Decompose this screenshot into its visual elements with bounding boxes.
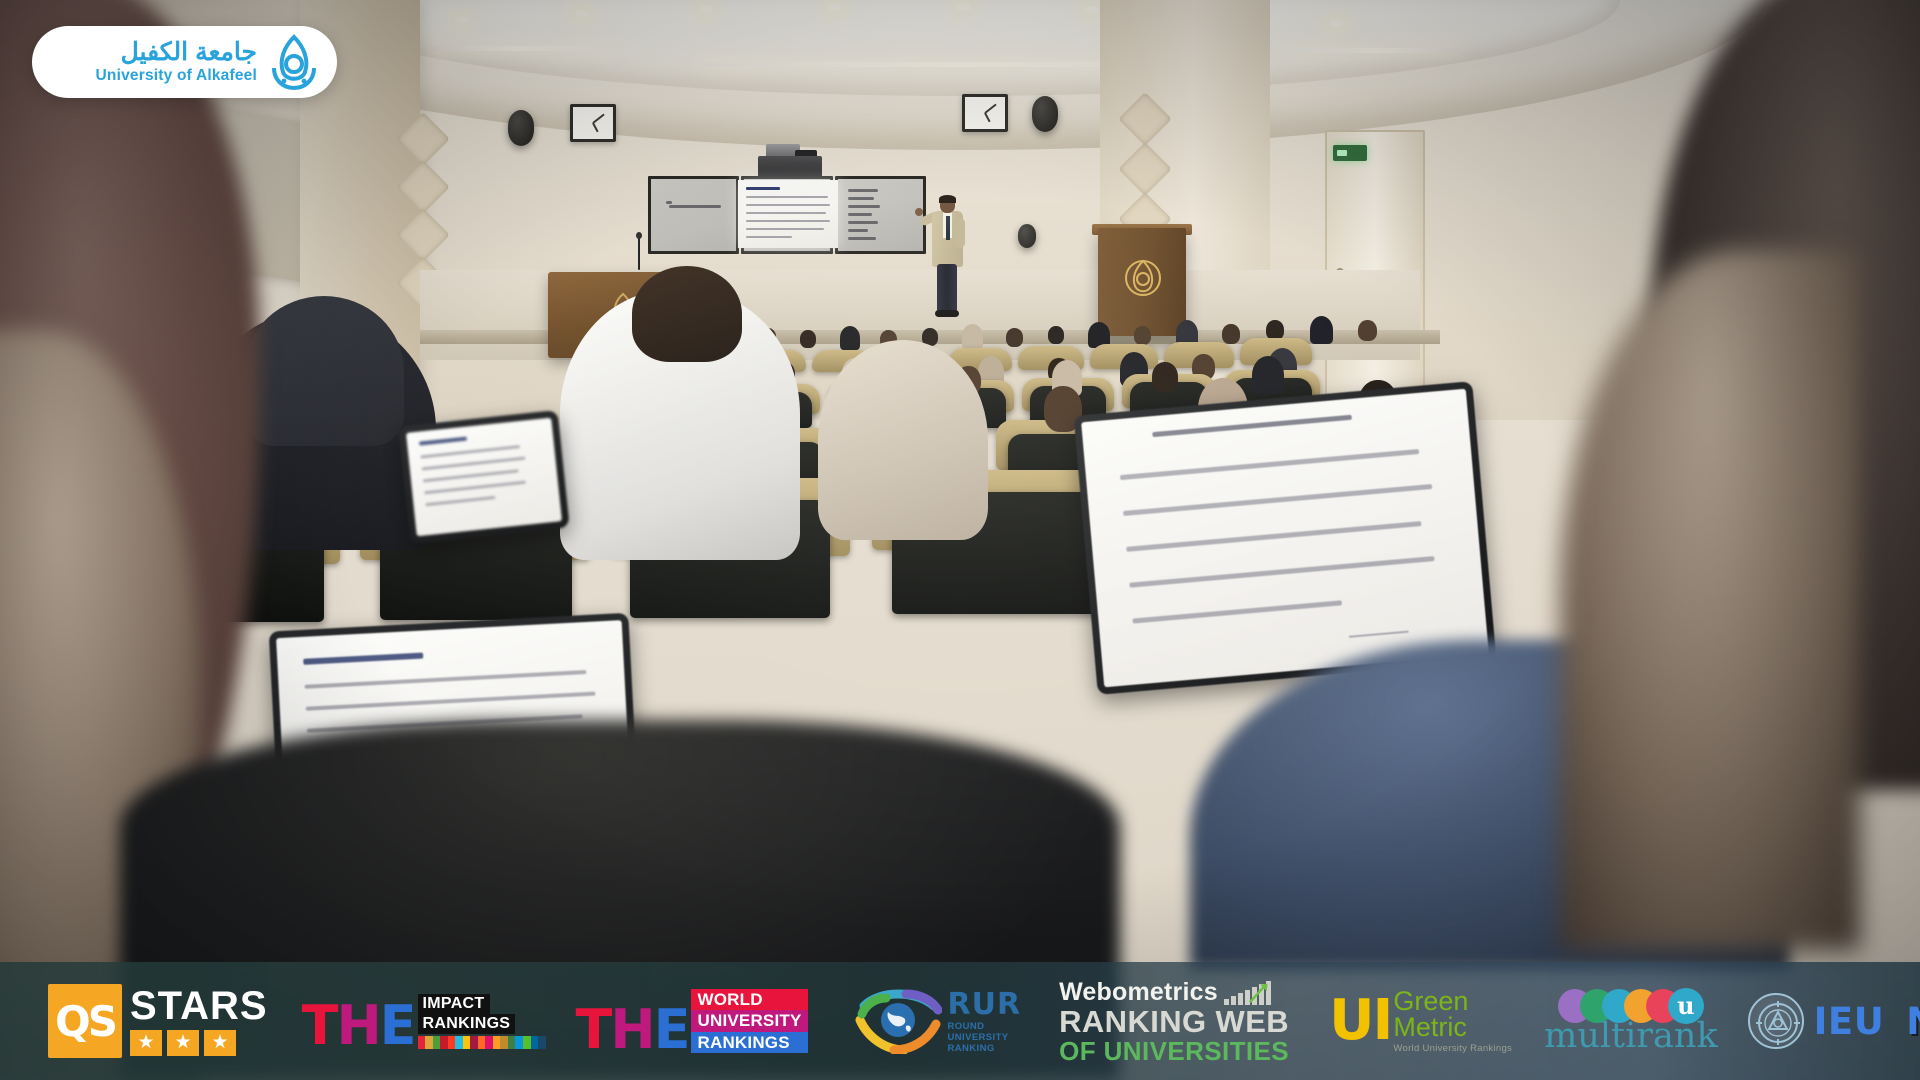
nrqiu-wordmark: NRQIU [1906,1000,1920,1043]
webometrics-wordmark: Webometrics [1059,980,1218,1005]
rur-logo[interactable]: RUR ROUND UNIVERSITY RANKING [854,987,1022,1055]
the-letter-t: T [576,998,611,1061]
exit-sign [1333,145,1367,161]
rur-sub-ranking: RANKING [948,1044,1022,1055]
the-letter-e: E [654,998,689,1061]
ieu-seal-icon [1748,993,1804,1049]
lecture-hall-photo [0,0,1920,1080]
ceiling-light [828,4,841,11]
student-tablet-small [398,410,569,544]
microphone-head-icon [636,232,642,239]
qs-stars-word: STARS [130,987,268,1025]
rankings-label: RANKINGS [418,1014,516,1034]
of-universities-label: OF UNIVERSITIES [1059,1038,1289,1064]
u-multirank-logo[interactable]: u multirank [1544,989,1718,1054]
star-icon: ★ [130,1030,162,1056]
student-hijab [244,296,404,446]
ceiling-light [700,6,713,13]
desk-microphone [638,236,640,270]
wall-speaker [1018,224,1036,248]
projected-slide [738,180,838,248]
the-letter-t: T [302,994,337,1057]
slide-heading-bar [746,187,780,190]
ceiling-light [957,4,970,11]
lecturer-tie [946,216,950,240]
the-impact-rankings-logo[interactable]: THE IMPACT RANKINGS [302,994,546,1049]
wall-clock [570,104,616,142]
ui-greenmetric-logo[interactable]: UI Green Metric World University Ranking… [1329,989,1512,1052]
qs-stars-logo[interactable]: QS STARS ★ ★ ★ [48,984,268,1058]
wall-speaker [508,110,534,146]
ui-mark-label: UI [1329,999,1391,1044]
rankings-footer-bar: QS STARS ★ ★ ★ THE IMPACT RANKINGS [0,962,1920,1080]
greenmetric-text: Green Metric World University Rankings [1393,989,1512,1052]
whiteboard-right [835,176,926,254]
university-name-english: University of Alkafeel [96,68,257,84]
screenshot-root: جامعة الكفيل University of Alkafeel QS S… [0,0,1920,1080]
wall-clock [962,94,1008,132]
student-head [632,266,742,362]
the-wordmark: THE [302,1005,415,1049]
ceiling-light-strip [1290,48,1460,53]
the-letter-h: H [336,994,379,1057]
globe-eye-icon [854,988,942,1054]
lecturer-right-arm [955,218,965,248]
lecturer-left-hand [915,208,923,216]
qs-stars-text: STARS ★ ★ ★ [130,987,268,1056]
wall-speaker [1032,96,1058,132]
rur-text: RUR ROUND UNIVERSITY RANKING [948,987,1022,1055]
alkafeel-emblem-icon [267,34,321,90]
ieu-logo[interactable]: IEU [1748,993,1885,1049]
university-label: UNIVERSITY [691,1010,807,1032]
university-name-arabic: جامعة الكفيل [96,40,257,65]
ceiling-light [1330,20,1343,27]
world-label: WORLD [691,989,807,1011]
qs-mark-label: QS [55,997,115,1046]
student-hijab [818,340,988,540]
ceiling-light-strip [430,46,610,51]
the-world-university-rankings-logo[interactable]: THE WORLD UNIVERSITY RANKINGS [576,989,808,1054]
ranking-web-label: RANKING WEB [1059,1006,1289,1037]
rur-wordmark: RUR [948,987,1022,1022]
rankings-label: RANKINGS [691,1032,807,1054]
ceiling-light [575,10,588,17]
multirank-wordmark: multirank [1544,1019,1718,1054]
lecturer-hair [939,195,956,203]
whiteboard-left [648,176,739,254]
university-logo-badge[interactable]: جامعة الكفيل University of Alkafeel [32,26,337,98]
star-icon: ★ [167,1030,199,1056]
tablet-screen [406,418,562,537]
impact-label: IMPACT [418,994,490,1014]
webometrics-logo[interactable]: Webometrics RANKING WEB OF UNIVERSITIES [1059,979,1289,1064]
ceiling-light [1085,6,1098,13]
ieu-wordmark: IEU [1814,1000,1885,1043]
nrqiu-logo[interactable]: NRQIU [1884,1000,1920,1043]
sdg-color-bar [418,1036,546,1049]
ceiling-projector [758,156,822,178]
star-icon: ★ [204,1030,236,1056]
ceiling-light [455,16,468,23]
the-letter-e: E [380,994,415,1057]
greenmetric-subtitle: World University Rankings [1393,1044,1512,1053]
the-letter-h: H [610,998,653,1061]
bar-chart-arrow-icon [1224,979,1271,1005]
world-rankings-stack: WORLD UNIVERSITY RANKINGS [691,989,807,1054]
metric-label: Metric [1393,1015,1512,1041]
qs-star-rating: ★ ★ ★ [130,1030,268,1056]
university-logo-text: جامعة الكفيل University of Alkafeel [96,40,257,84]
the-wordmark: THE [576,1009,689,1053]
qs-mark-box: QS [48,984,122,1058]
impact-rankings-stack: IMPACT RANKINGS [418,994,546,1049]
